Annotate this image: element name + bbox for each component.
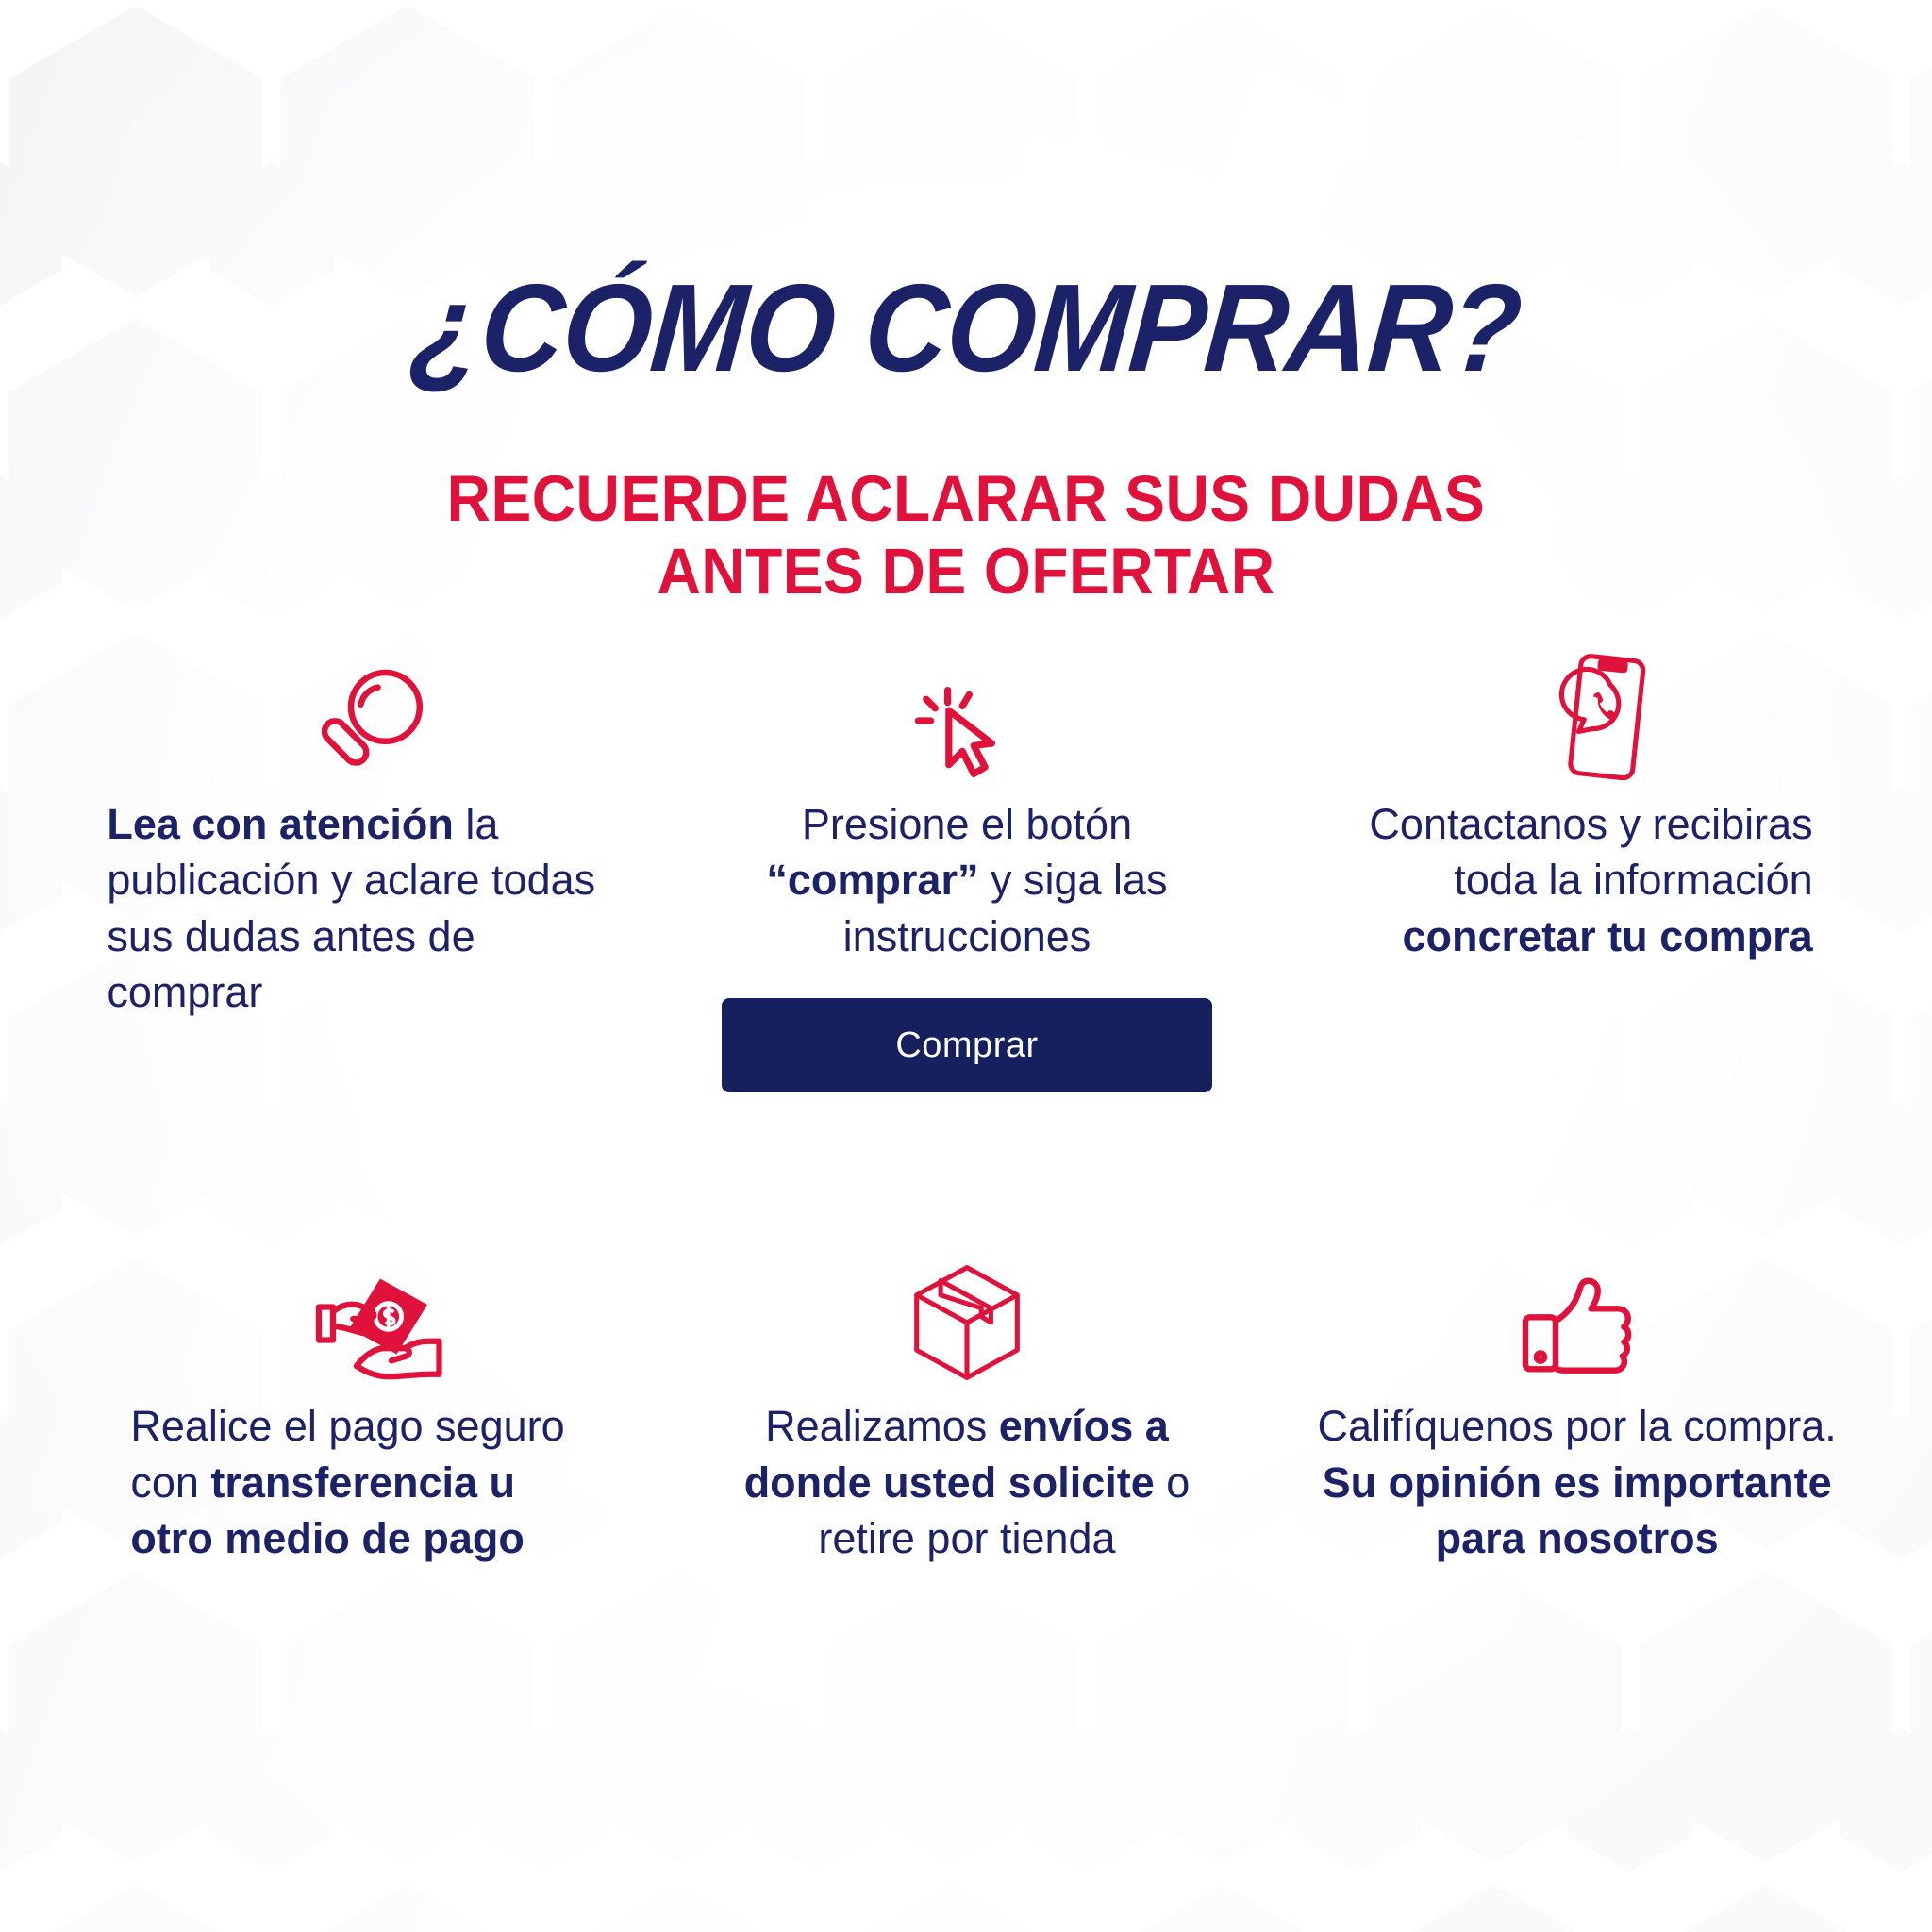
page-subtitle: RECUERDE ACLARAR SUS DUDAS ANTES DE OFER…: [0, 462, 1932, 608]
step-press-buy-text: Presione el botón “comprar” y siga las i…: [703, 796, 1231, 964]
page-title: ¿CÓMO COMPRAR?: [0, 266, 1932, 391]
cash-in-hand-icon: [309, 1262, 451, 1385]
comprar-button[interactable]: Comprar: [722, 998, 1212, 1092]
click-cursor-icon-wrap: [910, 651, 1024, 783]
whatsapp-phone-icon: [1545, 651, 1666, 783]
magnifier-icon-wrap: [314, 651, 437, 783]
page-title-text: ¿CÓMO COMPRAR?: [407, 266, 1524, 391]
step-contact-whatsapp-text: Contactanos y recibiras toda la informac…: [1341, 796, 1813, 964]
page-subtitle-line-2: ANTES DE OFERTAR: [68, 535, 1865, 608]
steps-row-top: Lea con atención la publicación y aclare…: [52, 651, 1882, 1092]
thumbs-up-icon: [1517, 1264, 1638, 1385]
step-read-listing-text: Lea con atención la publicación y aclare…: [107, 796, 607, 1021]
step-contact-whatsapp: Contactanos y recibiras toda la informac…: [1272, 651, 1882, 1092]
cash-in-hand-icon-wrap: [309, 1224, 451, 1385]
magnifier-icon: [314, 660, 437, 783]
infographic-page: ¿CÓMO COMPRAR? RECUERDE ACLARAR SUS DUDA…: [0, 0, 1932, 1932]
package-box-icon: [907, 1260, 1027, 1385]
step-shipping: Realizamos envíos a donde usted solicite…: [662, 1224, 1273, 1566]
step-rate-us: Califíquenos por la compra. Su opinión e…: [1272, 1224, 1882, 1566]
step-payment-text: Realice el pago seguro con transferencia…: [130, 1398, 583, 1566]
step-shipping-text: Realizamos envíos a donde usted solicite…: [703, 1398, 1231, 1566]
step-payment: Realice el pago seguro con transferencia…: [52, 1224, 662, 1566]
click-cursor-icon: [910, 670, 1024, 783]
package-box-icon-wrap: [907, 1224, 1027, 1385]
thumbs-up-icon-wrap: [1517, 1224, 1638, 1385]
step-read-listing: Lea con atención la publicación y aclare…: [52, 651, 662, 1092]
steps-grid: Lea con atención la publicación y aclare…: [52, 651, 1882, 1566]
step-press-buy: Presione el botón “comprar” y siga las i…: [662, 651, 1273, 1092]
step-rate-us-text: Califíquenos por la compra. Su opinión e…: [1313, 1398, 1841, 1566]
page-subtitle-line-1: RECUERDE ACLARAR SUS DUDAS: [68, 462, 1865, 535]
steps-row-bottom: Realice el pago seguro con transferencia…: [52, 1224, 1882, 1566]
whatsapp-phone-icon-wrap: [1545, 651, 1666, 783]
